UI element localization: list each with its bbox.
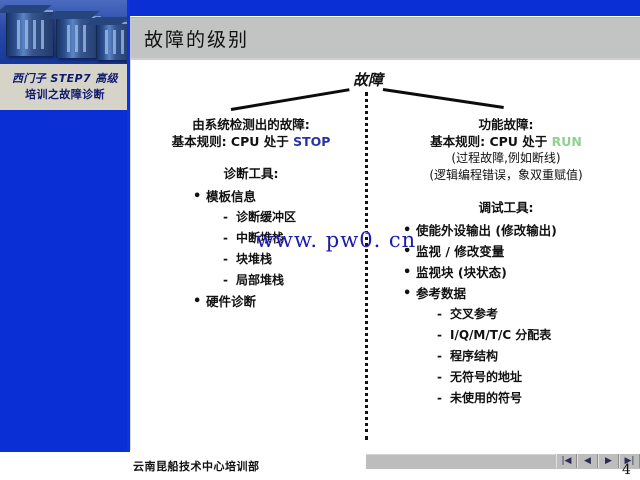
right-sublist-3: 交叉参考 I/Q/M/T/C 分配表 程序结构 无符号的地址 未使用的符号 xyxy=(434,304,637,409)
left-tools-title: 诊断工具: xyxy=(137,163,365,182)
column-system-detected-faults: 由系统检测出的故障: 基本规则: CPU 处于 STOP 诊断工具: 模板信息 … xyxy=(137,116,365,312)
list-item: 未使用的符号 xyxy=(434,388,637,409)
list-item: 程序结构 xyxy=(434,346,637,367)
list-item: 诊断缓冲区 xyxy=(220,207,365,228)
right-tools-list-wrap: 使能外设输出 (修改输出) 监视 / 修改变量 监视块 (块状态) 参考数据 交… xyxy=(401,220,637,409)
sidebar-fill xyxy=(0,110,130,452)
previous-slide-button[interactable]: ◀ xyxy=(577,454,598,468)
right-header-line1: 功能故障: xyxy=(375,116,637,133)
sidebar: 西门子 STEP7 高级 培训之故障诊断 xyxy=(0,0,130,452)
page-title: 故障的级别 xyxy=(144,25,249,52)
watermark: www. pw0. cn xyxy=(256,228,416,252)
right-header-line3: (过程故障,例如断线) xyxy=(375,150,637,167)
title-bar: 故障的级别 xyxy=(130,17,640,59)
list-item: 块堆栈 xyxy=(220,249,365,270)
diagram-root-label: 故障 xyxy=(353,69,383,90)
top-blue-band xyxy=(130,0,640,16)
left-header-line2-prefix: 基本规则: CPU 处于 xyxy=(172,134,294,149)
column-functional-faults: 功能故障: 基本规则: CPU 处于 RUN (过程故障,例如断线) (逻辑编程… xyxy=(375,116,637,409)
right-header-line2-prefix: 基本规则: CPU 处于 xyxy=(430,134,552,149)
list-item: 使能外设输出 (修改输出) xyxy=(401,220,637,241)
branch-line-right xyxy=(383,88,504,109)
list-item: 参考数据 交叉参考 I/Q/M/T/C 分配表 程序结构 无符号的地址 未使用的… xyxy=(401,283,637,409)
right-header-line4: (逻辑编程错误，象双重赋值) xyxy=(375,167,637,184)
cpu-state-run: RUN xyxy=(552,134,582,149)
right-tools-list: 使能外设输出 (修改输出) 监视 / 修改变量 监视块 (块状态) 参考数据 交… xyxy=(401,220,637,409)
right-header: 功能故障: 基本规则: CPU 处于 RUN (过程故障,例如断线) (逻辑编程… xyxy=(375,116,637,184)
left-header-line2: 基本规则: CPU 处于 STOP xyxy=(137,133,365,150)
list-item: 监视 / 修改变量 xyxy=(401,241,637,262)
siemens-plc-racks-photo xyxy=(0,0,130,64)
list-item: 交叉参考 xyxy=(434,304,637,325)
list-item: 硬件诊断 xyxy=(191,291,365,312)
branch-line-left xyxy=(231,88,350,111)
list-item: 无符号的地址 xyxy=(434,367,637,388)
left-header: 由系统检测出的故障: 基本规则: CPU 处于 STOP xyxy=(137,116,365,150)
list-item-label: 参考数据 xyxy=(416,286,466,301)
page-number: 4 xyxy=(622,462,631,478)
slide-content: 故障 由系统检测出的故障: 基本规则: CPU 处于 STOP 诊断工具: 模板… xyxy=(130,60,640,450)
list-item-label: 模板信息 xyxy=(206,189,256,204)
vertical-dotted-divider xyxy=(365,92,368,440)
cpu-state-stop: STOP xyxy=(293,134,330,149)
list-item: I/Q/M/T/C 分配表 xyxy=(434,325,637,346)
list-item: 监视块 (块状态) xyxy=(401,262,637,283)
slide-canvas: 西门子 STEP7 高级 培训之故障诊断 故障的级别 故障 由系统检测出的故障:… xyxy=(0,0,640,480)
left-header-line1: 由系统检测出的故障: xyxy=(137,116,365,133)
sidebar-caption-line2: 培训之故障诊断 xyxy=(25,87,105,103)
sidebar-caption: 西门子 STEP7 高级 培训之故障诊断 xyxy=(0,64,130,110)
list-item: 局部堆栈 xyxy=(220,270,365,291)
right-tools-title: 调试工具: xyxy=(375,197,637,216)
sidebar-caption-line1: 西门子 STEP7 高级 xyxy=(12,71,118,87)
first-slide-button[interactable]: |◀ xyxy=(556,454,577,468)
right-header-line2: 基本规则: CPU 处于 RUN xyxy=(375,133,637,150)
footer-organization: 云南昆船技术中心培训部 xyxy=(133,458,260,474)
next-slide-button[interactable]: ▶ xyxy=(598,454,619,468)
